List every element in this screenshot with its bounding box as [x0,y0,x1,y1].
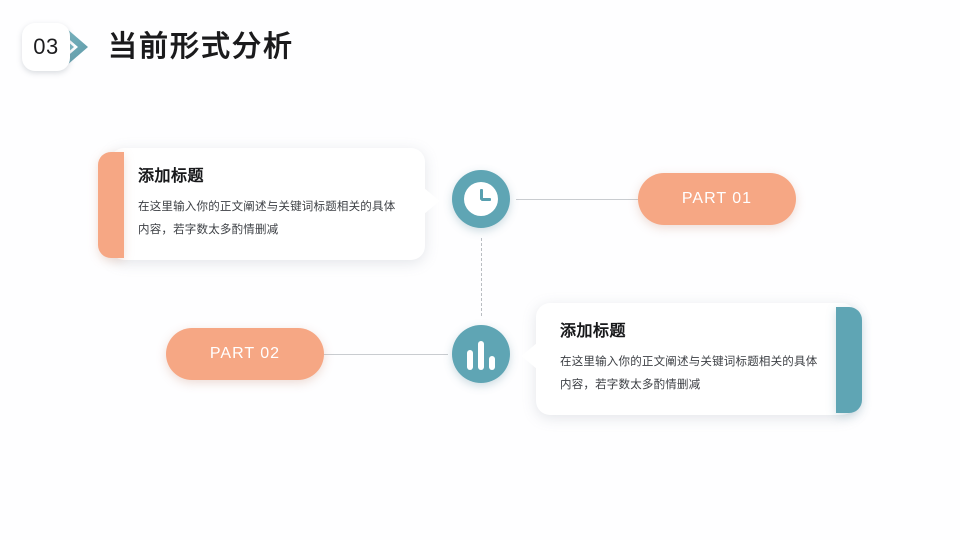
card-body: 在这里输入你的正文阐述与关键词标题相关的具体内容，若字数太多酌情删减 [138,196,400,242]
section-badge: 03 [22,20,100,74]
card-title: 添加标题 [560,317,626,341]
pill-part-02[interactable]: PART 02 [166,328,324,380]
connector-line-row1 [516,199,646,200]
node-clock[interactable] [452,170,510,228]
pill-part-01[interactable]: PART 01 [638,173,796,225]
connector-dashed-vertical [481,238,482,316]
page-header: 03 当前形式分析 [0,0,960,90]
bar-3 [489,356,495,370]
pill-label: PART 01 [682,190,752,207]
clock-hand-hour [481,198,491,201]
card-title: 添加标题 [138,162,204,186]
card-1-accent-bar [98,152,124,258]
page-title: 当前形式分析 [108,23,294,65]
clock-icon [464,182,498,216]
pill-label: PART 02 [210,345,280,362]
node-bar-chart[interactable] [452,325,510,383]
card-2-accent-bar [836,307,862,413]
connector-line-row2 [318,354,448,355]
section-number: 03 [22,23,70,71]
bar-1 [467,350,473,370]
card-1-tail [424,188,440,214]
card-body: 在这里输入你的正文阐述与关键词标题相关的具体内容，若字数太多酌情删减 [560,351,826,397]
bar-2 [478,341,484,370]
info-card-1: 添加标题 在这里输入你的正文阐述与关键词标题相关的具体内容，若字数太多酌情删减 [110,148,425,260]
bar-chart-icon [466,338,496,370]
info-card-2: 添加标题 在这里输入你的正文阐述与关键词标题相关的具体内容，若字数太多酌情删减 [536,303,856,415]
card-2-tail [521,343,537,369]
